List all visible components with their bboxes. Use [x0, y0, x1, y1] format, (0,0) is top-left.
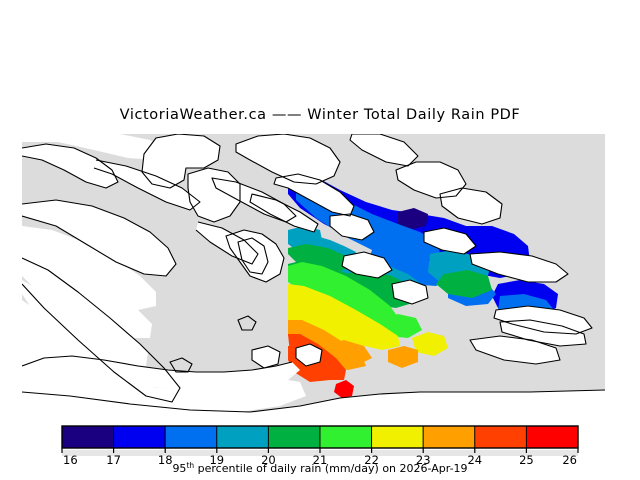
colorbar-swatch-25-26[interactable]	[526, 426, 578, 448]
colorbar-swatch-24-25[interactable]	[475, 426, 527, 448]
colorbar-swatch-19-20[interactable]	[217, 426, 269, 448]
colorbar-swatch-22-23[interactable]	[372, 426, 424, 448]
colorbar-caption: 95th percentile of daily rain (mm/day) o…	[172, 461, 467, 475]
colorbar[interactable]: 1617181920212223242526 95th percentile o…	[0, 420, 640, 480]
colorbar-tick-label-16: 16	[63, 453, 78, 467]
weather-map[interactable]	[0, 134, 640, 414]
colorbar-swatch-23-24[interactable]	[423, 426, 475, 448]
colorbar-swatch-17-18[interactable]	[114, 426, 166, 448]
colorbar-swatches[interactable]	[62, 426, 578, 448]
colorbar-swatch-18-19[interactable]	[165, 426, 217, 448]
colorbar-tick-label-17: 17	[106, 453, 121, 467]
colorbar-container: 1617181920212223242526 95th percentile o…	[0, 420, 640, 480]
colorbar-tick-label-25: 25	[519, 453, 534, 467]
colorbar-tick-label-26: 26	[562, 453, 577, 467]
colorbar-swatch-16-17[interactable]	[62, 426, 114, 448]
colorbar-swatch-21-22[interactable]	[320, 426, 372, 448]
screenshot-root: VictoriaWeather.ca —— Winter Total Daily…	[0, 0, 640, 480]
colorbar-swatch-20-21[interactable]	[268, 426, 320, 448]
map-container	[0, 134, 640, 414]
colorbar-tick-label-18: 18	[158, 453, 173, 467]
colorbar-tick-label-24: 24	[467, 453, 482, 467]
page-title: VictoriaWeather.ca —— Winter Total Daily…	[0, 107, 640, 123]
